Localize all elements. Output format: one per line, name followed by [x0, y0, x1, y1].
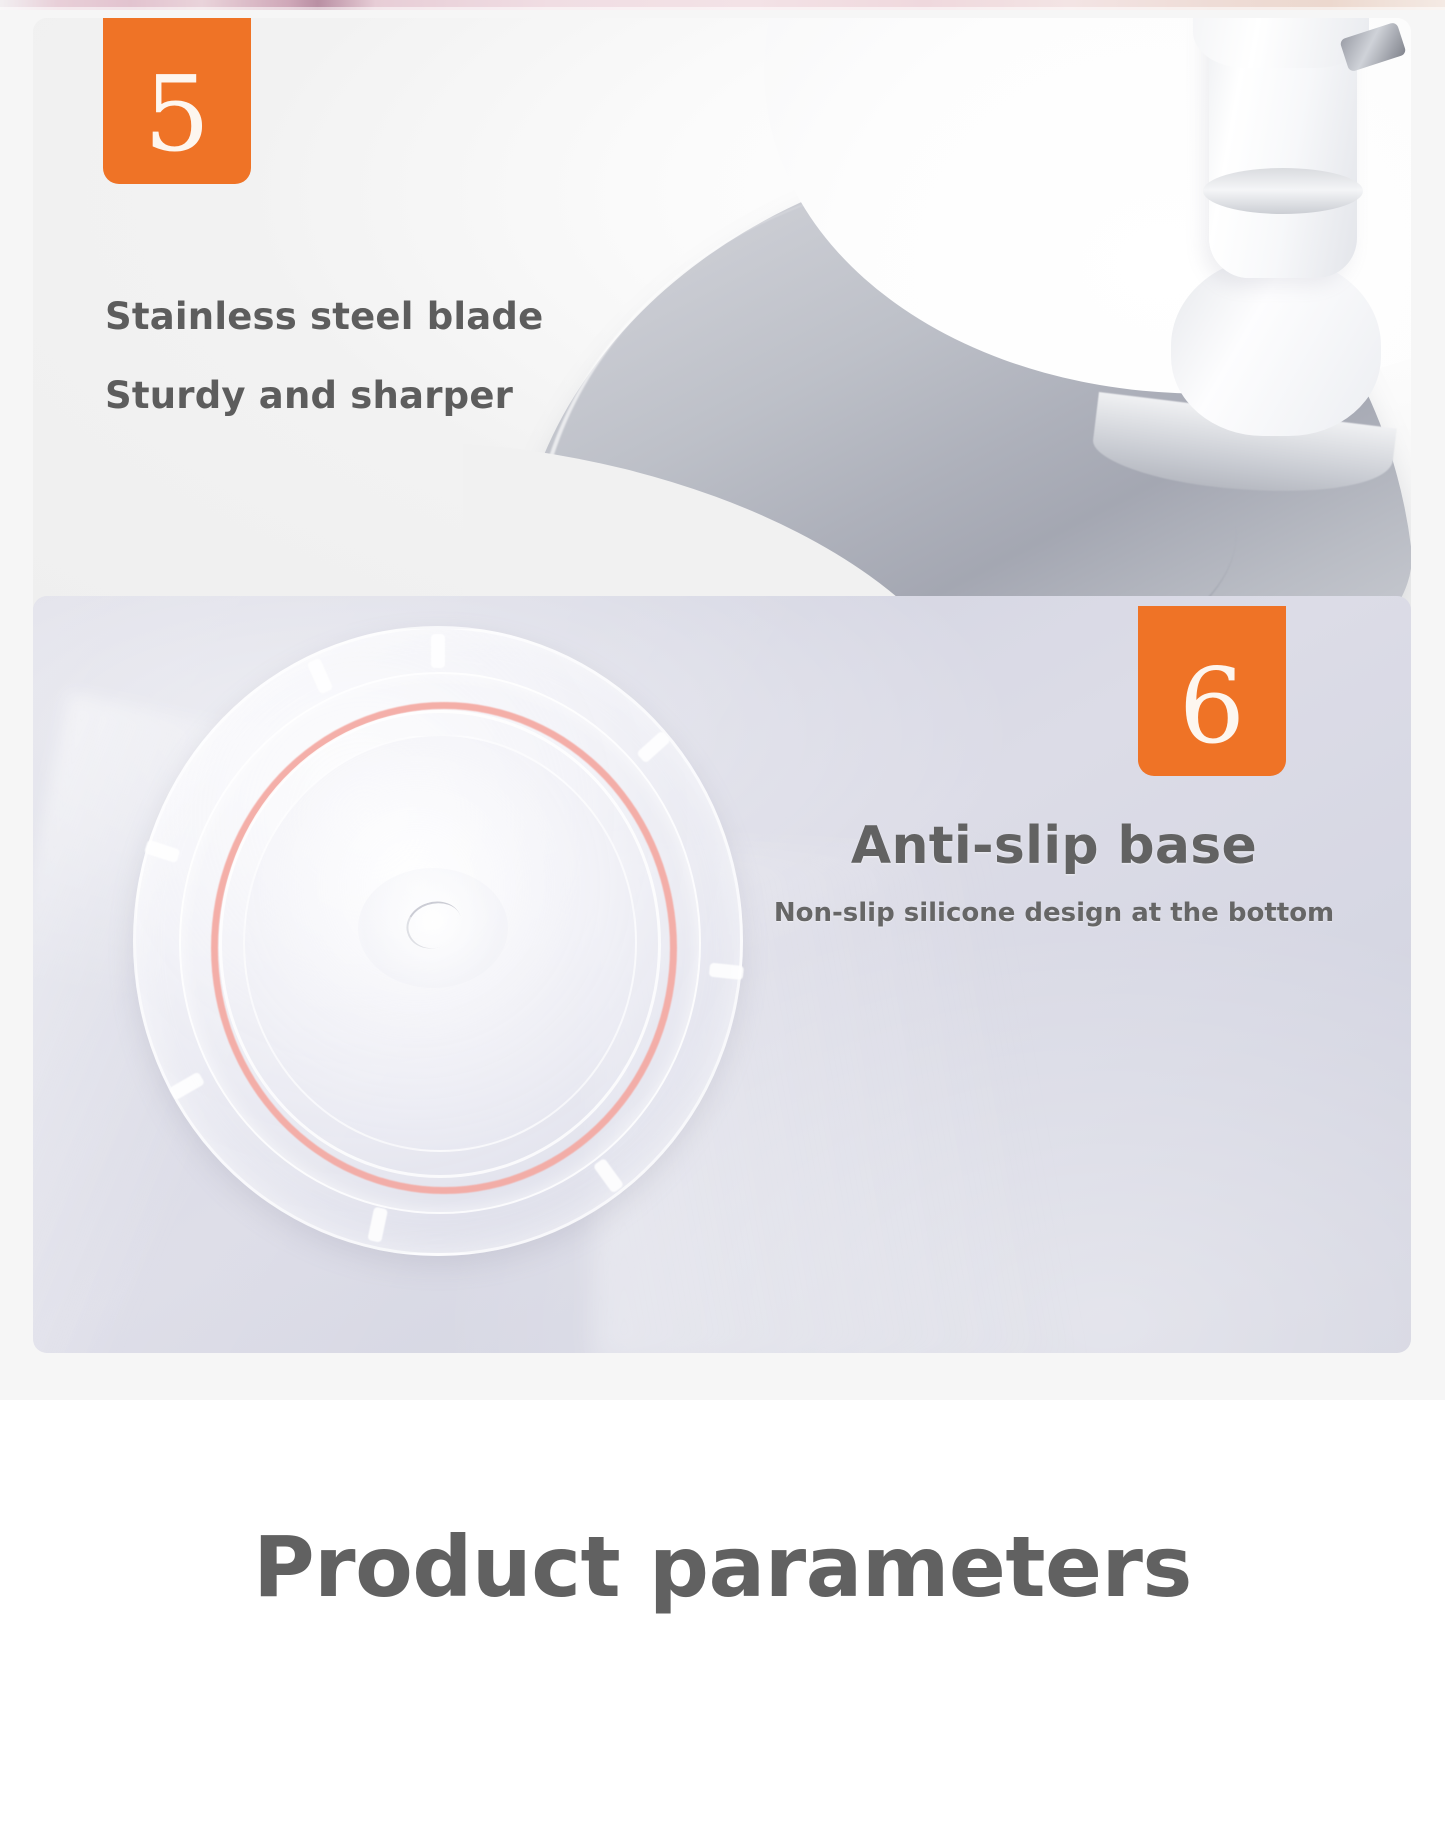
feature-card-6-text: Anti-slip base Non-slip silicone design …: [709, 816, 1399, 928]
blade-hub-base: [1171, 256, 1381, 436]
feature-card-anti-slip-base: 6 Anti-slip base Non-slip silicone desig…: [33, 596, 1411, 1353]
anti-slip-base-photo: [133, 626, 743, 1256]
product-detail-page: 5 Stainless steel blade Sturdy and sharp…: [0, 0, 1445, 1826]
product-parameters-heading: Product parameters: [0, 1518, 1445, 1616]
feature-card-5-text: Stainless steel blade Sturdy and sharper: [105, 298, 665, 414]
features-section: 5 Stainless steel blade Sturdy and sharp…: [0, 10, 1445, 1400]
feature-6-title: Anti-slip base: [709, 816, 1399, 876]
bowl-center-boss: [358, 868, 508, 988]
feature-number-badge-6: 6: [1138, 606, 1286, 776]
blade-hub-ring: [1203, 168, 1363, 214]
feature-5-title: Stainless steel blade: [105, 298, 665, 335]
feature-number-badge-5: 5: [103, 18, 251, 184]
product-parameters-section: Product parameters: [0, 1400, 1445, 1826]
previous-panel-sliver: [0, 0, 1445, 10]
bowl-rib: [431, 634, 445, 668]
feature-5-subtitle: Sturdy and sharper: [105, 377, 665, 414]
feature-card-stainless-steel-blade: 5 Stainless steel blade Sturdy and sharp…: [33, 18, 1411, 690]
feature-6-subtitle: Non-slip silicone design at the bottom: [709, 898, 1399, 928]
